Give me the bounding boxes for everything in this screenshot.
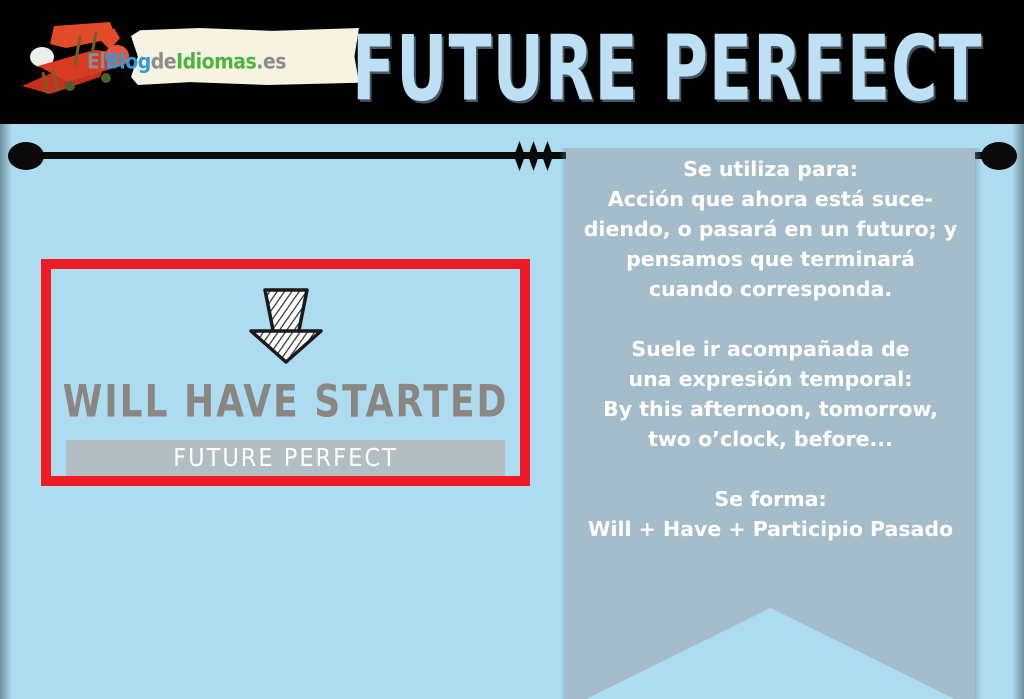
banner-content: Se utiliza para: Acción que ahora está s…	[566, 148, 975, 544]
arrow-container	[51, 287, 520, 365]
formation-block: Se forma: Will + Have + Participio Pasad…	[566, 484, 975, 544]
usage-line-3: pensamos que terminará	[572, 244, 969, 274]
time-expressions-block: Suele ir acompañada de una expresión tem…	[566, 334, 975, 454]
usage-block: Se utiliza para: Acción que ahora está s…	[566, 154, 975, 304]
logo-part-el: El	[87, 50, 105, 74]
usage-line-2: diendo, o pasará en un futuro; y	[572, 214, 969, 244]
usage-line-4: cuando corresponda.	[572, 274, 969, 304]
tense-bar: FUTURE PERFECT	[66, 440, 505, 476]
timeline-tick-3	[542, 141, 553, 171]
timeline-dot-right	[981, 142, 1017, 170]
formation-heading: Se forma:	[572, 484, 969, 514]
content-area: WILL HAVE STARTED FUTURE PERFECT Se util…	[0, 124, 1024, 699]
site-logo[interactable]: ElBlogdeIdiomas.es	[14, 12, 359, 112]
logo-part-tld: .es	[256, 50, 286, 74]
timeline-tick-1	[514, 141, 525, 171]
logo-part-blog: Blog	[105, 50, 150, 74]
formation-formula: Will + Have + Participio Pasado	[572, 514, 969, 544]
header-bar: ElBlogdeIdiomas.es FUTURE PERFECT	[0, 0, 1024, 124]
timeline-tick-2	[528, 141, 539, 171]
tense-bar-label: FUTURE PERFECT	[66, 443, 505, 472]
edge-vignette-left	[0, 124, 12, 699]
banner-spacer-1	[566, 304, 975, 334]
hand-drawn-down-arrow-icon	[243, 287, 329, 365]
time-expr-line-4: two o’clock, before...	[572, 424, 969, 454]
banner-spacer-2	[566, 454, 975, 484]
time-expr-line-3: By this afternoon, tomorrow,	[572, 394, 969, 424]
time-expr-line-1: Suele ir acompañada de	[572, 334, 969, 364]
edge-vignette-right	[1012, 124, 1024, 699]
logo-text: ElBlogdeIdiomas.es	[14, 50, 359, 74]
timeline-dot-left	[8, 142, 44, 170]
page-title: FUTURE PERFECT	[352, 14, 770, 124]
time-expr-line-2: una expresión temporal:	[572, 364, 969, 394]
usage-line-1: Acción que ahora está suce-	[572, 184, 969, 214]
infographic-page: ElBlogdeIdiomas.es FUTURE PERFECT	[0, 0, 1024, 699]
verb-phrase: WILL HAVE STARTED	[51, 376, 520, 428]
banner-shadow-right	[975, 148, 982, 699]
logo-part-de: de	[151, 50, 176, 74]
example-box: WILL HAVE STARTED FUTURE PERFECT	[41, 259, 530, 486]
usage-heading: Se utiliza para:	[572, 154, 969, 184]
logo-part-idiomas: Idiomas	[176, 50, 256, 74]
